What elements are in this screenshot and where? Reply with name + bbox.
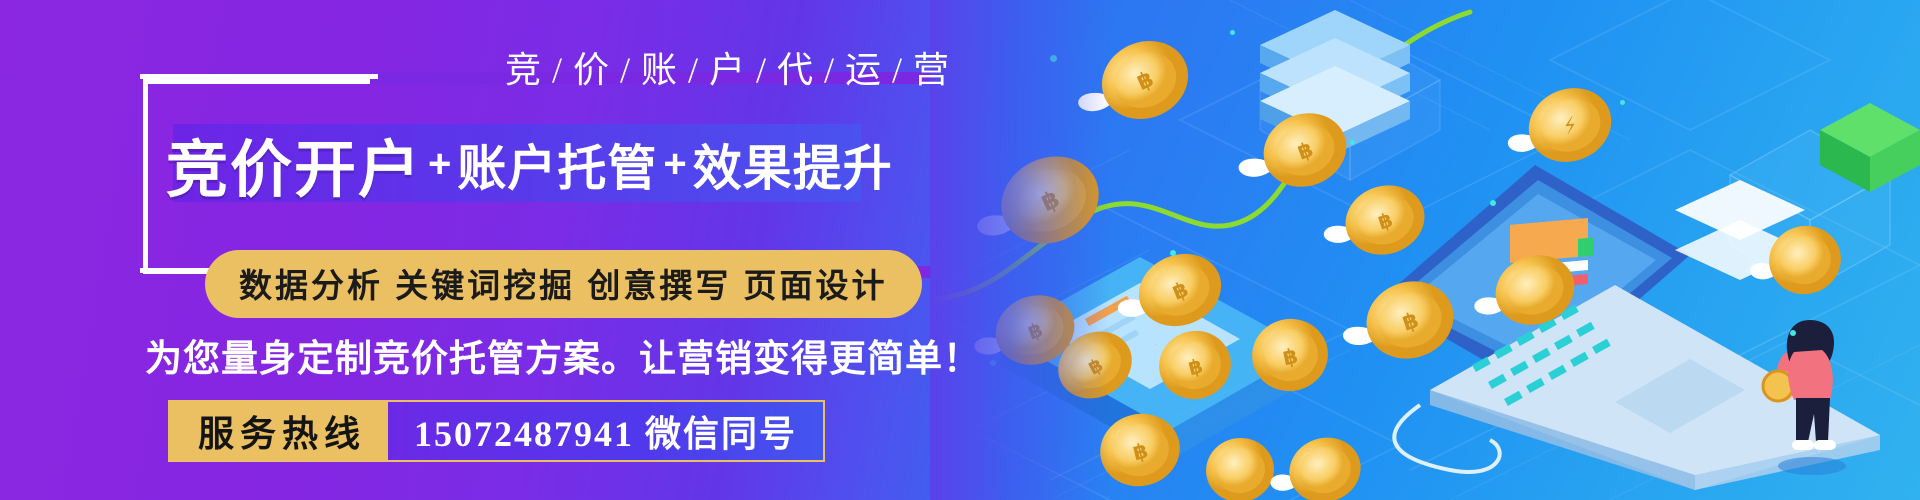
headline-primary: 竞价开户	[166, 119, 422, 209]
headline-tertiary: 效果提升	[693, 129, 893, 200]
sparkle-dot	[1170, 250, 1176, 256]
hotline-label: 服务热线	[170, 402, 388, 460]
description-text: 为您量身定制竞价托管方案。让营销变得更简单！	[145, 328, 985, 382]
sparkle-dot	[1490, 200, 1496, 206]
promo-banner: ฿ ฿ ฿ ฿	[0, 0, 1920, 500]
headline-plus-2: +	[663, 142, 686, 187]
hotline-bar[interactable]: 服务热线 15072487941 微信同号	[168, 400, 825, 462]
content-panel: 竞 / 价 / 账 / 户 / 代 / 运 / 营 竞价开户 + 账户托管 + …	[0, 0, 1000, 500]
tagline: 竞 / 价 / 账 / 户 / 代 / 运 / 营	[505, 48, 975, 92]
sparkle-dot	[1350, 140, 1355, 145]
illustration-panel: ฿ ฿ ฿ ฿	[930, 0, 1920, 500]
headline-plus-1: +	[428, 142, 451, 187]
headline-secondary: 账户托管	[457, 129, 657, 200]
services-pill: 数据分析 关键词挖掘 创意撰写 页面设计	[205, 250, 922, 318]
headline: 竞价开户 + 账户托管 + 效果提升	[166, 120, 926, 208]
sparkle-dot	[1230, 30, 1235, 35]
sparkle-dot	[1620, 100, 1625, 105]
hotline-number[interactable]: 15072487941 微信同号	[388, 402, 823, 460]
sparkle-dot	[1790, 330, 1796, 336]
